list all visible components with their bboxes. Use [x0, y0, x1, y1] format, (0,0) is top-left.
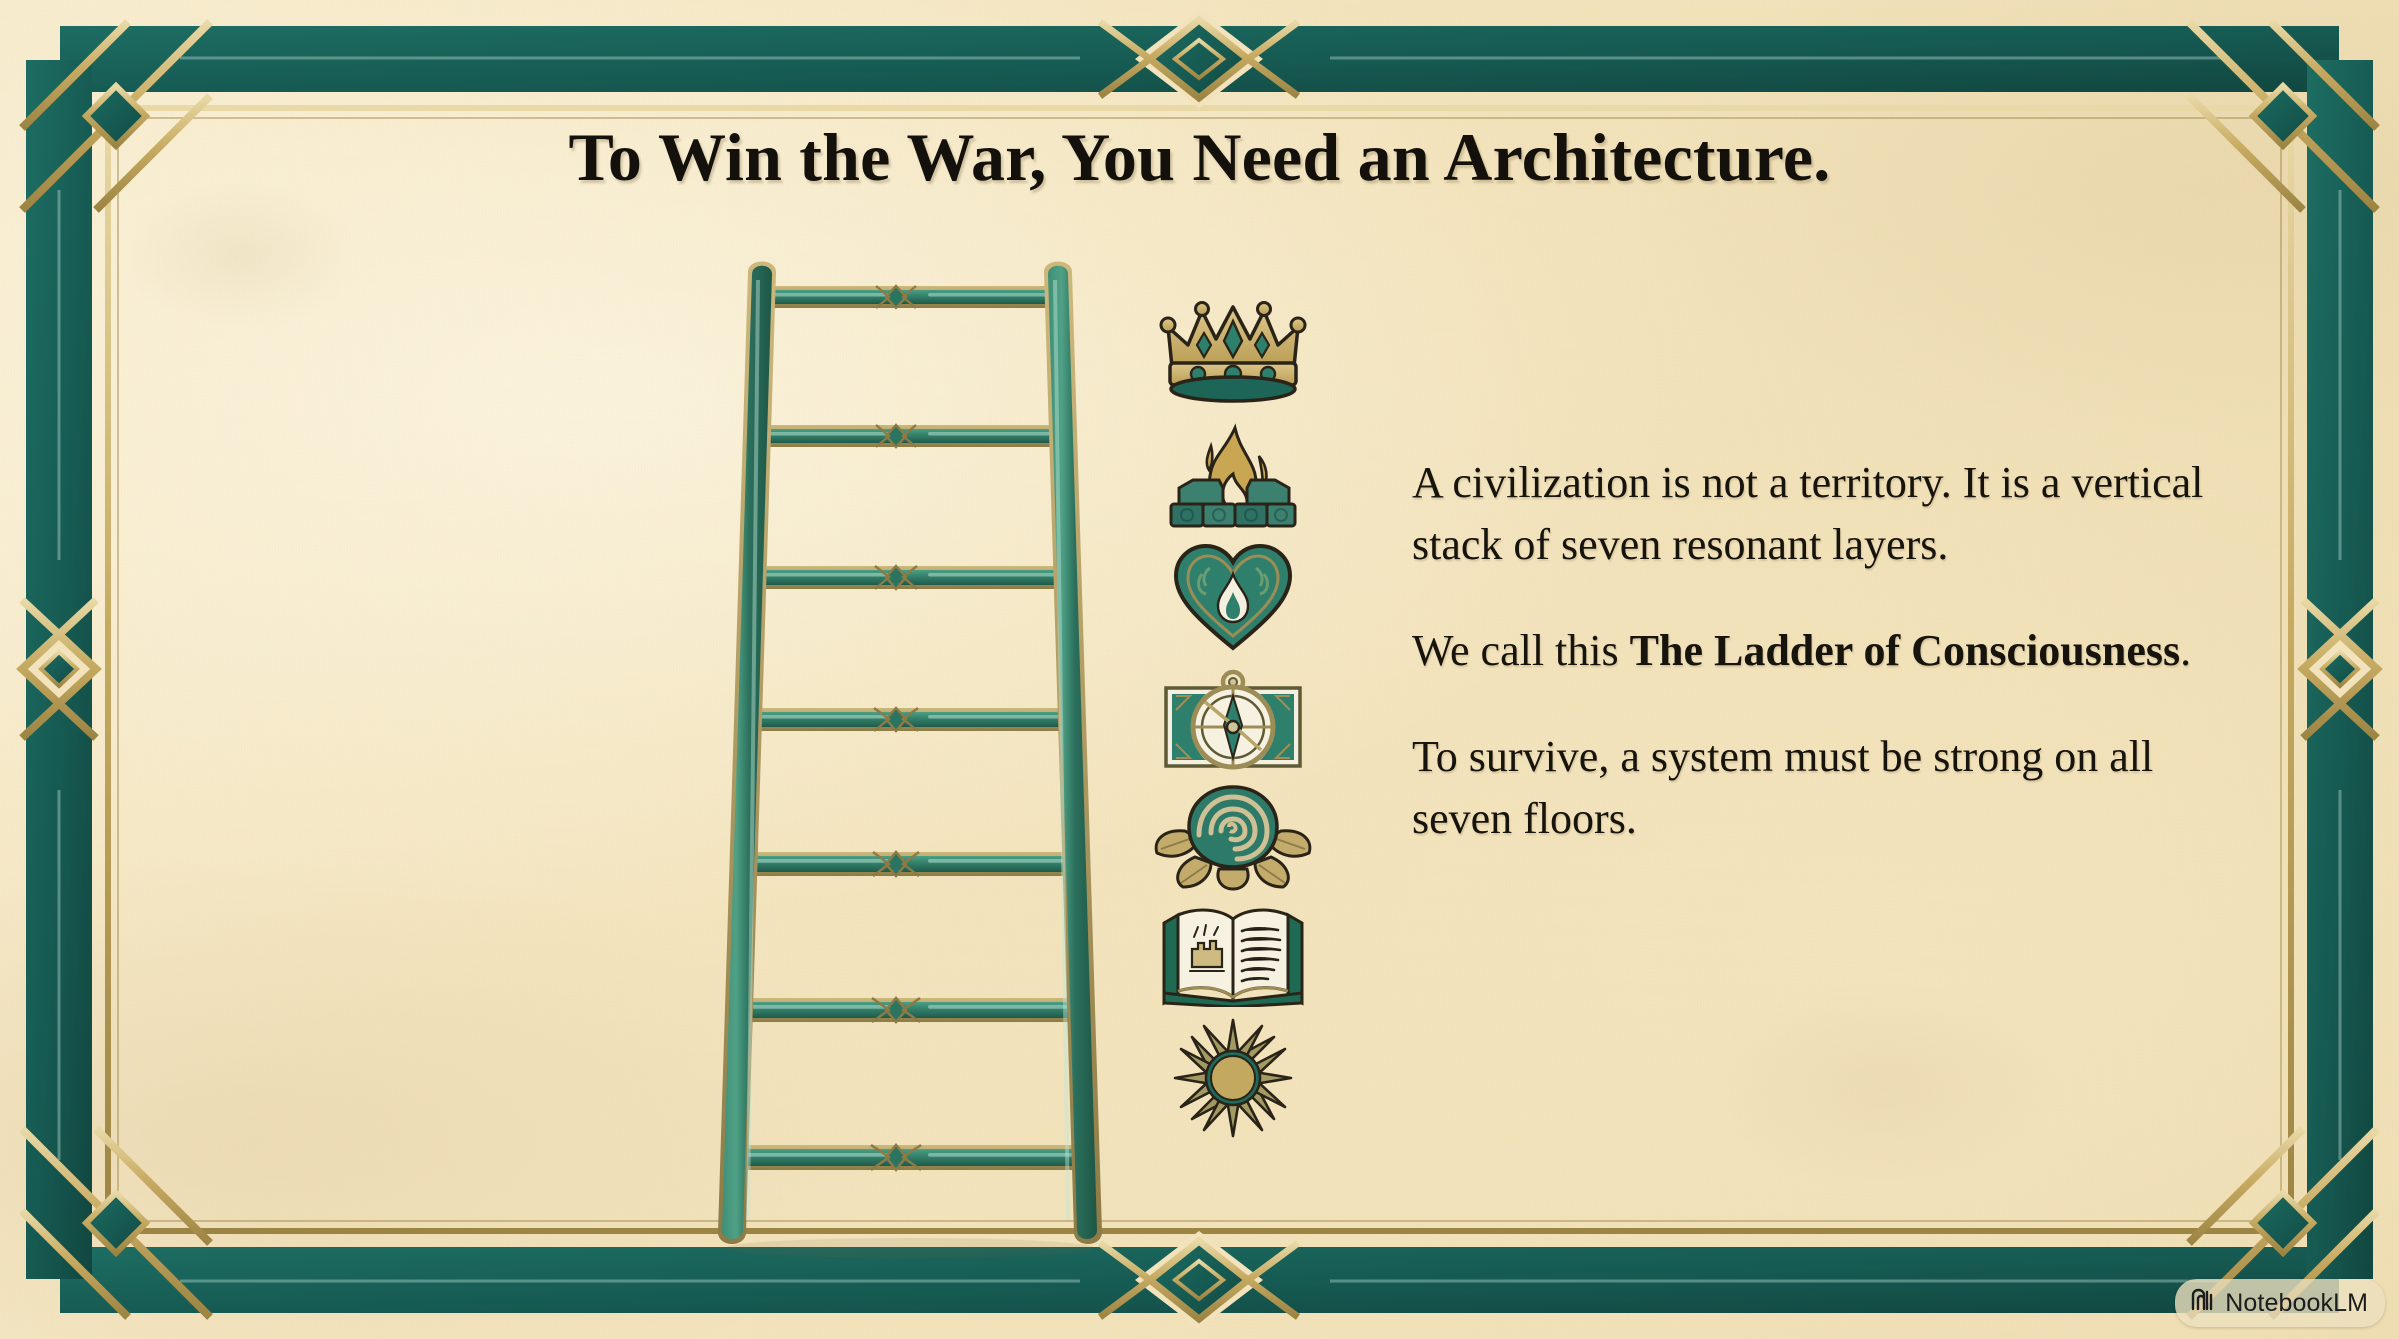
notebooklm-watermark: NotebookLM: [2175, 1279, 2385, 1327]
ladder-of-consciousness-illustration: [700, 250, 1120, 1260]
ladder-rail-left: [718, 262, 776, 1245]
ladder-rail-right: [1044, 262, 1102, 1245]
compass-icon: [1128, 662, 1338, 772]
body-copy: A civilization is not a territory. It is…: [1412, 452, 2232, 850]
paragraph-civilization: A civilization is not a territory. It is…: [1412, 452, 2232, 576]
notebooklm-logo-icon: [2189, 1288, 2216, 1318]
paper-blotch: [120, 180, 360, 330]
paper-blotch: [1700, 980, 2060, 1190]
paragraph-ladder-name: We call this The Ladder of Consciousness…: [1412, 620, 2232, 682]
hearth-fire-icon: [1128, 422, 1338, 532]
ladder-name-prefix: We call this: [1412, 626, 1630, 675]
crown-icon: [1128, 290, 1338, 410]
notebooklm-label: NotebookLM: [2225, 1289, 2368, 1318]
heart-flame-icon: [1128, 540, 1338, 655]
paragraph-survive: To survive, a system must be strong on a…: [1412, 726, 2232, 850]
sun-icon: [1128, 1018, 1338, 1138]
open-book-icon: [1128, 900, 1338, 1008]
ladder-name-bold: The Ladder of Consciousness: [1630, 626, 2181, 675]
ladder-name-suffix: .: [2180, 626, 2191, 675]
layer-icon-column: [1128, 290, 1338, 1250]
slide-canvas: To Win the War, You Need an Architecture…: [0, 0, 2399, 1339]
rose-icon: [1128, 782, 1338, 892]
slide-title: To Win the War, You Need an Architecture…: [0, 118, 2399, 197]
